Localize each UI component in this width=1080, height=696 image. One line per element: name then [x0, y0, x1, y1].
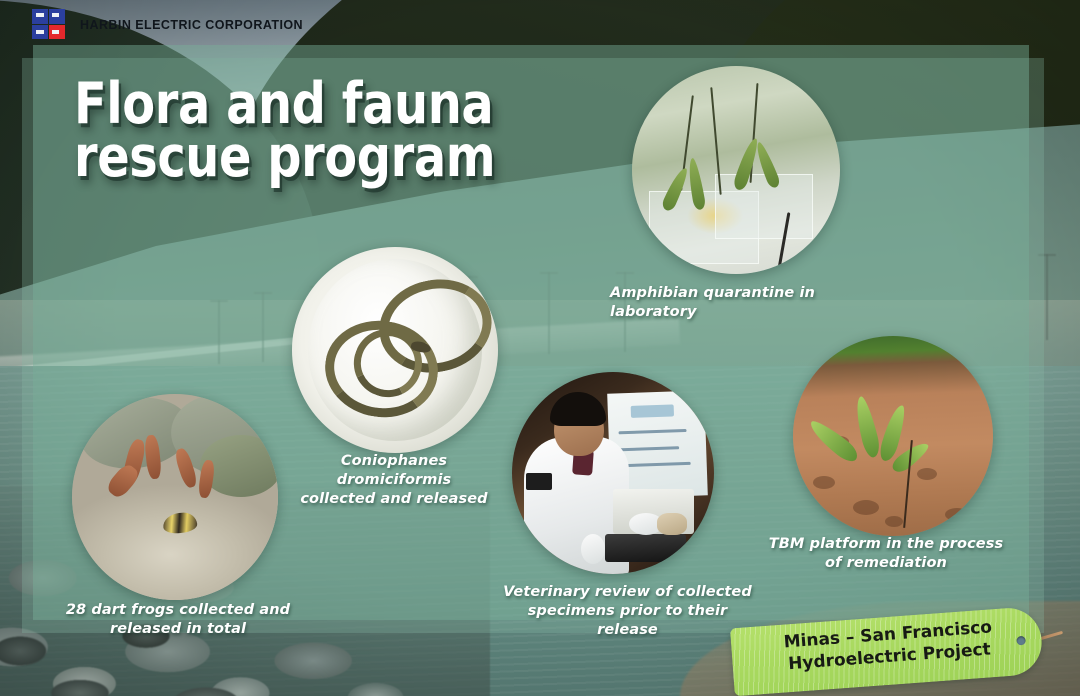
logo-square-blue-top-left [32, 9, 48, 24]
whiteboard-heading [631, 404, 674, 417]
amphibian-photo-content [632, 66, 840, 274]
specimen-cloth [657, 513, 687, 535]
caption-snake: Coniophanes dromiciformis collected and … [286, 452, 502, 509]
caption-amphibian-quarantine: Amphibian quarantine in laboratory [610, 284, 900, 322]
seedling-leaf [805, 416, 861, 465]
amphibian-quarantine-photo [632, 66, 840, 274]
tbm-photo-content [793, 336, 993, 536]
soil-clod [945, 508, 969, 521]
veterinary-review-photo [512, 372, 714, 574]
gloved-hand [581, 534, 605, 564]
whiteboard-writing [618, 429, 686, 434]
badge-patch [526, 473, 552, 490]
soil-clod [885, 516, 903, 527]
frogs-photo-content [72, 394, 278, 600]
caption-dart-frogs: 28 dart frogs collected and released in … [58, 601, 298, 639]
logo-square-red-bottom-right [49, 25, 65, 40]
seedling-leaf [852, 395, 883, 459]
tbm-platform-photo [793, 336, 993, 536]
dart-frogs-photo [72, 394, 278, 600]
technician-hair [550, 392, 606, 426]
snake-photo [292, 247, 498, 453]
hec-logo-icon [32, 9, 65, 39]
glass-tank [715, 174, 813, 238]
vet-photo-content [512, 372, 714, 574]
logo-square-blue-top-right [49, 9, 65, 24]
digital-scale [605, 534, 686, 562]
dart-frog [162, 512, 198, 535]
whiteboard-writing [619, 446, 679, 451]
presentation-slide: HARBIN ELECTRIC CORPORATION Flora and fa… [0, 0, 1080, 696]
snake-photo-content [292, 247, 498, 453]
company-name: HARBIN ELECTRIC CORPORATION [80, 18, 303, 32]
soil-clod [917, 468, 937, 480]
soil-clod [813, 476, 835, 489]
logo-square-blue-bottom-left [32, 25, 48, 40]
slide-header: HARBIN ELECTRIC CORPORATION [0, 0, 1080, 46]
caption-tbm-platform: TBM platform in the process of remediati… [766, 535, 1006, 573]
caption-veterinary-review: Veterinary review of collected specimens… [495, 583, 760, 640]
page-title: Flora and fauna rescue program [74, 78, 544, 184]
whiteboard-writing [619, 462, 691, 468]
soil-clod [853, 500, 879, 515]
